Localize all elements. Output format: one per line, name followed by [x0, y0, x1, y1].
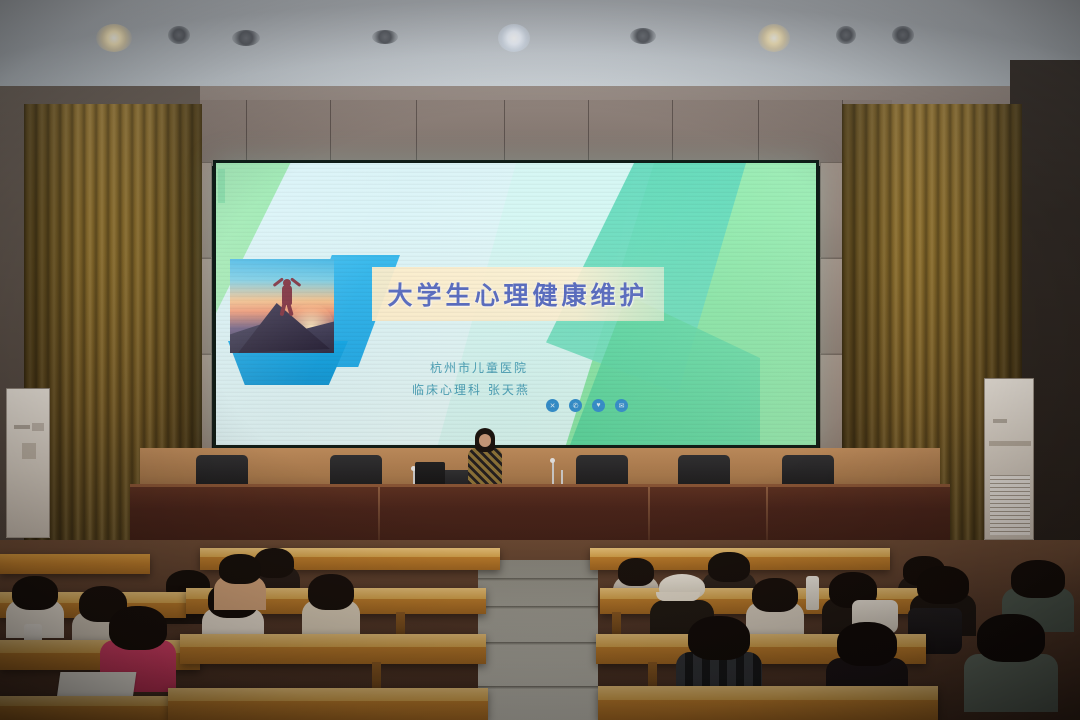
- ceiling-light: [498, 24, 530, 52]
- wechat-icon: ✆: [569, 399, 582, 412]
- ceiling-light: [836, 26, 856, 44]
- slide-title-band: 大学生心理健康维护: [372, 267, 664, 321]
- mountain-summit-photo: [230, 259, 334, 353]
- wall-panel-right: [820, 354, 844, 450]
- ceiling-light: [168, 26, 190, 44]
- slide-subtitle-department: 临床心理科 张天燕: [412, 381, 530, 398]
- ceiling-light: [630, 28, 656, 44]
- climber-silhouette: [272, 275, 302, 315]
- presenter: [466, 428, 504, 486]
- audience-desk-row: [0, 554, 150, 574]
- slide-social-icons: ✕ ✆ ♥ ✉: [546, 399, 628, 412]
- ac-unit-left: [6, 388, 50, 538]
- wall-panel-right: [820, 258, 844, 354]
- audience-desk-row: [180, 634, 486, 664]
- comment-icon: ✉: [615, 399, 628, 412]
- ceiling-light: [232, 30, 260, 46]
- presenter-body: [468, 448, 502, 488]
- center-aisle: [478, 560, 598, 720]
- wall-panel-right: [820, 162, 844, 258]
- ceiling-light: [372, 30, 398, 44]
- audience-member: [212, 554, 268, 606]
- slide-hero-image: [230, 259, 342, 377]
- slide-subtitle-organization: 杭州市儿童医院: [430, 359, 528, 376]
- microphone-stem: [552, 462, 554, 484]
- slide-canvas: 大学生心理健康维护 杭州市儿童医院 临床心理科 张天燕 ✕ ✆ ♥ ✉: [216, 163, 816, 445]
- cap-brim: [656, 592, 700, 601]
- audience-member: [300, 574, 362, 634]
- ceiling-light: [892, 26, 914, 44]
- audience-desk-row: [598, 686, 938, 720]
- wall-panel-band: [186, 100, 892, 162]
- ac-unit-right: [984, 378, 1034, 540]
- lecture-hall-photo: 大学生心理健康维护 杭州市儿童医院 临床心理科 张天燕 ✕ ✆ ♥ ✉: [0, 0, 1080, 720]
- slide-edge-bar: [218, 169, 225, 203]
- share-icon: ✕: [546, 399, 559, 412]
- slide-title: 大学生心理健康维护: [387, 276, 648, 312]
- water-bottle: [806, 576, 819, 610]
- microphone-head: [550, 458, 555, 463]
- projection-screen: 大学生心理健康维护 杭州市儿童医院 临床心理科 张天燕 ✕ ✆ ♥ ✉: [213, 160, 819, 448]
- ceiling-light: [96, 24, 132, 52]
- microphone-stem: [561, 470, 563, 484]
- presenter-face: [479, 434, 491, 447]
- audience-desk-row: [168, 688, 488, 720]
- heart-icon: ♥: [592, 399, 605, 412]
- audience-member: [962, 614, 1060, 706]
- ceiling-light: [758, 24, 790, 52]
